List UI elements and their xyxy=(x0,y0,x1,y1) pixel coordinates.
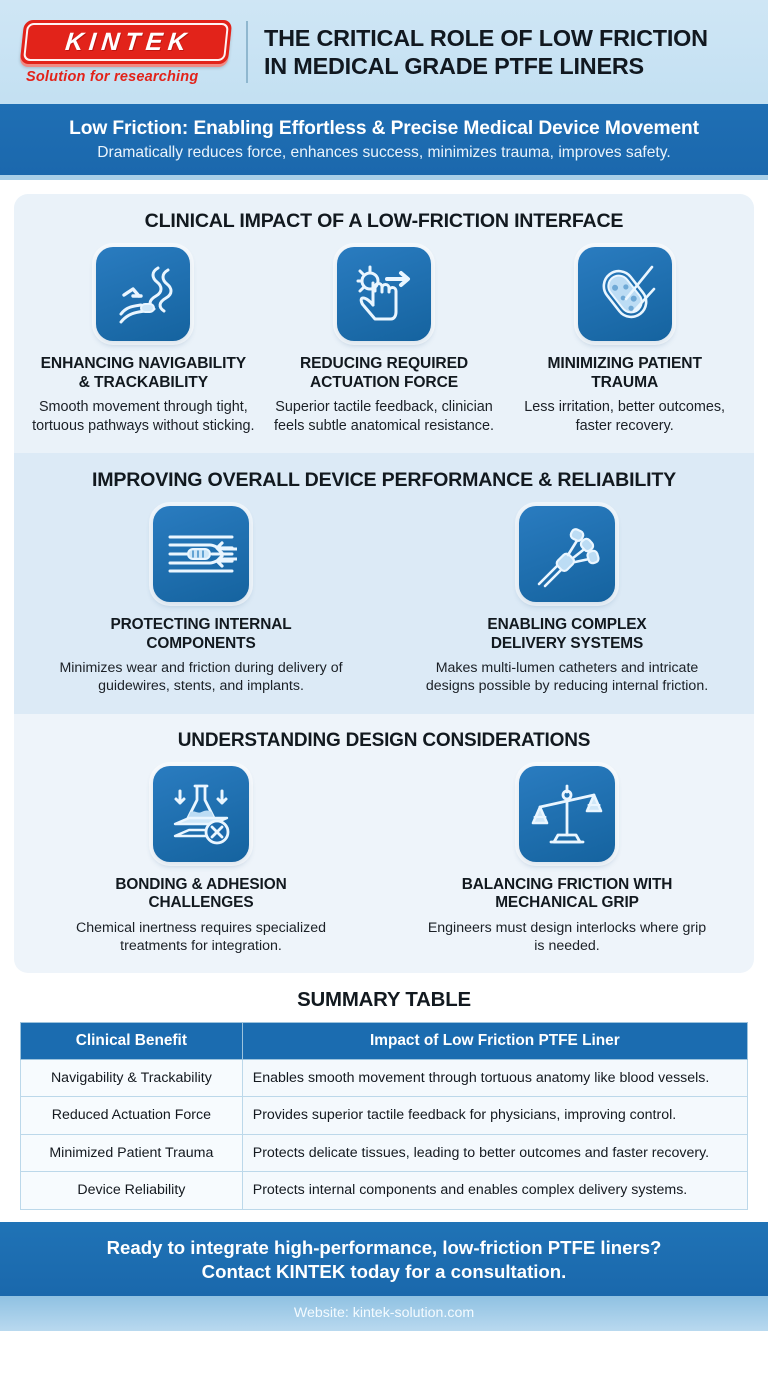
summary-table: Clinical Benefit Impact of Low Friction … xyxy=(20,1022,748,1210)
page-title: THE CRITICAL ROLE OF LOW FRICTION IN MED… xyxy=(264,24,708,81)
card-title-line-1: BALANCING FRICTION WITH xyxy=(462,876,673,894)
website-link[interactable]: Website: kintek-solution.com xyxy=(294,1305,474,1321)
cell-benefit: Reduced Actuation Force xyxy=(21,1097,243,1134)
card-description: Less irritation, better outcomes, faster… xyxy=(511,398,738,435)
infographic-page: KINTEK Solution for researching THE CRIT… xyxy=(0,0,768,1376)
card-description: Engineers must design interlocks where g… xyxy=(421,919,713,955)
card-title: REDUCING REQUIRED ACTUATION FORCE xyxy=(300,355,468,392)
tortuous-vessel-catheter-icon xyxy=(96,247,190,341)
cta-line-2: Contact KINTEK today for a consultation. xyxy=(16,1260,752,1284)
card-description: Smooth movement through tight, tortuous … xyxy=(30,398,257,435)
footer-cta: Ready to integrate high-performance, low… xyxy=(0,1222,768,1296)
sections-container: CLINICAL IMPACT OF A LOW-FRICTION INTERF… xyxy=(0,180,768,973)
card-title: BONDING & ADHESION CHALLENGES xyxy=(115,876,286,913)
section-title: CLINICAL IMPACT OF A LOW-FRICTION INTERF… xyxy=(30,210,738,233)
section-clinical-impact: CLINICAL IMPACT OF A LOW-FRICTION INTERF… xyxy=(14,194,754,453)
card-description: Chemical inertness requires specialized … xyxy=(55,919,347,955)
card-enabling-complex-delivery: ENABLING COMPLEX DELIVERY SYSTEMS Makes … xyxy=(421,506,713,695)
card-row: BONDING & ADHESION CHALLENGES Chemical i… xyxy=(30,766,738,955)
cell-benefit: Device Reliability xyxy=(21,1172,243,1209)
blood-vessel-needle-icon xyxy=(578,247,672,341)
page-title-line-1: THE CRITICAL ROLE OF LOW FRICTION xyxy=(264,24,708,52)
card-title-line-1: MINIMIZING PATIENT xyxy=(547,355,701,374)
hero-banner: Low Friction: Enabling Effortless & Prec… xyxy=(0,104,768,180)
card-title-line-2: COMPONENTS xyxy=(110,635,291,653)
cell-benefit: Minimized Patient Trauma xyxy=(21,1134,243,1171)
card-protecting-internal-components: PROTECTING INTERNAL COMPONENTS Minimizes… xyxy=(55,506,347,695)
balance-scale-icon xyxy=(519,766,615,862)
card-title: MINIMIZING PATIENT TRAUMA xyxy=(547,355,701,392)
table-header-row: Clinical Benefit Impact of Low Friction … xyxy=(21,1022,748,1059)
cta-line-1: Ready to integrate high-performance, low… xyxy=(16,1236,752,1260)
table-row: Minimized Patient Trauma Protects delica… xyxy=(21,1134,748,1171)
card-title: ENABLING COMPLEX DELIVERY SYSTEMS xyxy=(487,616,646,653)
section-device-performance: IMPROVING OVERALL DEVICE PERFORMANCE & R… xyxy=(14,453,754,713)
card-title-line-2: MECHANICAL GRIP xyxy=(462,894,673,912)
card-description: Minimizes wear and friction during deliv… xyxy=(55,659,347,695)
card-row: ENHANCING NAVIGABILITY & TRACKABILITY Sm… xyxy=(30,247,738,435)
section-title: UNDERSTANDING DESIGN CONSIDERATIONS xyxy=(30,730,738,752)
banner-title: Low Friction: Enabling Effortless & Prec… xyxy=(69,118,699,140)
table-row: Device Reliability Protects internal com… xyxy=(21,1172,748,1209)
banner-subtitle: Dramatically reduces force, enhances suc… xyxy=(97,144,670,162)
flask-layers-no-bond-icon xyxy=(153,766,249,862)
card-title-line-1: ENABLING COMPLEX xyxy=(487,616,646,634)
card-title-line-1: BONDING & ADHESION xyxy=(115,876,286,894)
table-row: Navigability & Trackability Enables smoo… xyxy=(21,1059,748,1096)
stent-in-tube-icon xyxy=(153,506,249,602)
card-title-line-1: ENHANCING NAVIGABILITY xyxy=(41,355,246,374)
table-row: Reduced Actuation Force Provides superio… xyxy=(21,1097,748,1134)
cell-impact: Protects delicate tissues, leading to be… xyxy=(242,1134,747,1171)
hand-touch-swipe-icon xyxy=(337,247,431,341)
card-enhancing-navigability: ENHANCING NAVIGABILITY & TRACKABILITY Sm… xyxy=(30,247,257,435)
card-title-line-2: & TRACKABILITY xyxy=(41,374,246,393)
logo-tagline: Solution for researching xyxy=(26,69,242,85)
footer-website-bar: Website: kintek-solution.com xyxy=(0,1296,768,1331)
page-title-line-2: IN MEDICAL GRADE PTFE LINERS xyxy=(264,52,708,80)
card-balancing-friction-grip: BALANCING FRICTION WITH MECHANICAL GRIP … xyxy=(421,766,713,955)
card-row: PROTECTING INTERNAL COMPONENTS Minimizes… xyxy=(30,506,738,695)
card-title-line-1: REDUCING REQUIRED xyxy=(300,355,468,374)
logo-plate: KINTEK xyxy=(20,20,233,64)
card-title: BALANCING FRICTION WITH MECHANICAL GRIP xyxy=(462,876,673,913)
card-title-line-2: DELIVERY SYSTEMS xyxy=(487,635,646,653)
column-header-impact: Impact of Low Friction PTFE Liner xyxy=(242,1022,747,1059)
card-title: ENHANCING NAVIGABILITY & TRACKABILITY xyxy=(41,355,246,392)
summary-title: SUMMARY TABLE xyxy=(20,989,748,1012)
card-title-line-2: ACTUATION FORCE xyxy=(300,374,468,393)
header-divider xyxy=(246,21,248,83)
card-reducing-actuation-force: REDUCING REQUIRED ACTUATION FORCE Superi… xyxy=(271,247,498,435)
cell-impact: Protects internal components and enables… xyxy=(242,1172,747,1209)
summary-section: SUMMARY TABLE Clinical Benefit Impact of… xyxy=(0,973,768,1222)
section-title: IMPROVING OVERALL DEVICE PERFORMANCE & R… xyxy=(30,469,738,492)
card-title-line-1: PROTECTING INTERNAL xyxy=(110,616,291,634)
section-design-considerations: UNDERSTANDING DESIGN CONSIDERATIONS xyxy=(14,714,754,973)
card-title: PROTECTING INTERNAL COMPONENTS xyxy=(110,616,291,653)
card-description: Superior tactile feedback, clinician fee… xyxy=(271,398,498,435)
cell-impact: Provides superior tactile feedback for p… xyxy=(242,1097,747,1134)
page-header: KINTEK Solution for researching THE CRIT… xyxy=(0,0,768,104)
cell-benefit: Navigability & Trackability xyxy=(21,1059,243,1096)
card-description: Makes multi-lumen catheters and intricat… xyxy=(421,659,713,695)
multi-lumen-catheter-icon xyxy=(519,506,615,602)
card-title-line-2: TRAUMA xyxy=(547,374,701,393)
column-header-clinical-benefit: Clinical Benefit xyxy=(21,1022,243,1059)
kintek-logo: KINTEK Solution for researching xyxy=(14,20,242,85)
card-bonding-adhesion-challenges: BONDING & ADHESION CHALLENGES Chemical i… xyxy=(55,766,347,955)
logo-wordmark: KINTEK xyxy=(59,27,193,56)
card-title-line-2: CHALLENGES xyxy=(115,894,286,912)
card-minimizing-patient-trauma: MINIMIZING PATIENT TRAUMA Less irritatio… xyxy=(511,247,738,435)
cell-impact: Enables smooth movement through tortuous… xyxy=(242,1059,747,1096)
